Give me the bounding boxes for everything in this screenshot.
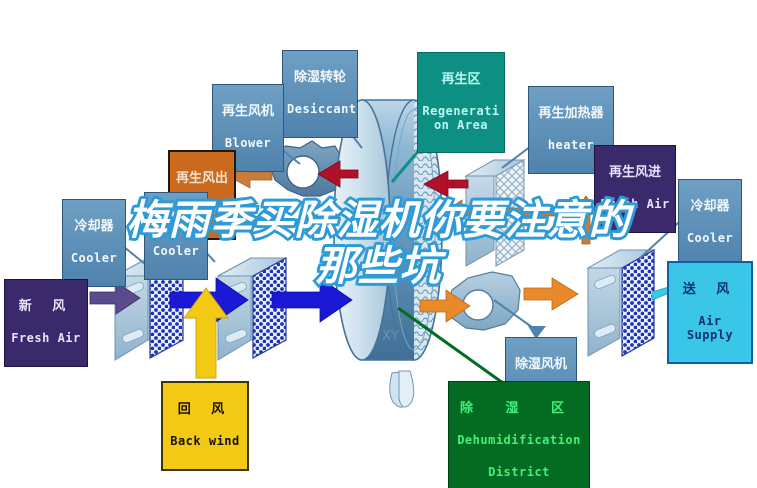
label-cooler-left-1-en: Cooler [67,252,121,265]
label-back-wind-en: Back wind [167,435,243,448]
dehumidifier-schematic-image: XY [0,0,757,488]
label-regeneration-air-in-en: Fresh Air [599,198,671,211]
rotor-media-strip [390,371,414,407]
label-regeneration-area-cn: 再生区 [422,73,500,88]
label-regeneration-blower-cn: 再生风机 [217,105,279,120]
label-cooler-right: 冷却器 Cooler [678,179,742,267]
label-dehumidification-blower-cn: 除湿风机 [510,358,572,373]
label-fresh-air-in: 新 风 Fresh Air [4,279,88,367]
label-cooler-right-en: Cooler [683,232,737,245]
label-air-supply-cn: 送 风 [673,283,747,298]
label-desiccant-rotor-cn: 除湿转轮 [287,71,353,86]
label-fresh-air-in-cn: 新 风 [9,300,83,315]
label-back-wind: 回 风 Back wind [161,381,249,471]
svg-text:XY: XY [382,329,399,344]
label-regeneration-blower-en: Blower [217,137,279,150]
cooler-coil-3 [588,250,654,356]
label-regeneration-area: 再生区 Regenerati on Area [417,52,505,153]
label-desiccant-rotor-en: Desiccant [287,103,353,116]
label-fresh-air-in-en: Fresh Air [9,332,83,345]
label-dehumidification-district: 除 湿 区 Dehumidification District [448,381,590,488]
label-regeneration-air-in-cn: 再生风进 [599,166,671,181]
label-dehumidification-district-en2: District [453,466,585,479]
label-cooler-left-2-en: Cooler [149,245,203,258]
label-cooler-left-1: 冷却器 Cooler [62,199,126,287]
label-regeneration-area-en: Regenerati on Area [422,105,500,132]
label-back-wind-cn: 回 风 [167,403,243,418]
label-cooler-left-2-cn: 冷却器 [149,213,203,228]
label-cooler-right-cn: 冷却器 [683,200,737,215]
label-regeneration-air-out-cn: 再生风出 [174,172,230,187]
label-air-supply-en: Air Supply [673,315,747,342]
label-dehumidification-district-cn: 除 湿 区 [453,402,585,417]
label-desiccant-rotor: 除湿转轮 Desiccant [282,50,358,138]
label-dehumidification-district-en1: Dehumidification [453,434,585,447]
label-cooler-left-1-cn: 冷却器 [67,220,121,235]
label-air-supply: 送 风 Air Supply [667,261,753,364]
label-cooler-left-2: 冷却器 Cooler [144,192,208,280]
dry-air-arrow-2 [524,278,578,310]
label-regeneration-heater-cn: 再生加热器 [533,107,609,122]
label-regeneration-air-in: 再生风进 Fresh Air [594,145,676,233]
